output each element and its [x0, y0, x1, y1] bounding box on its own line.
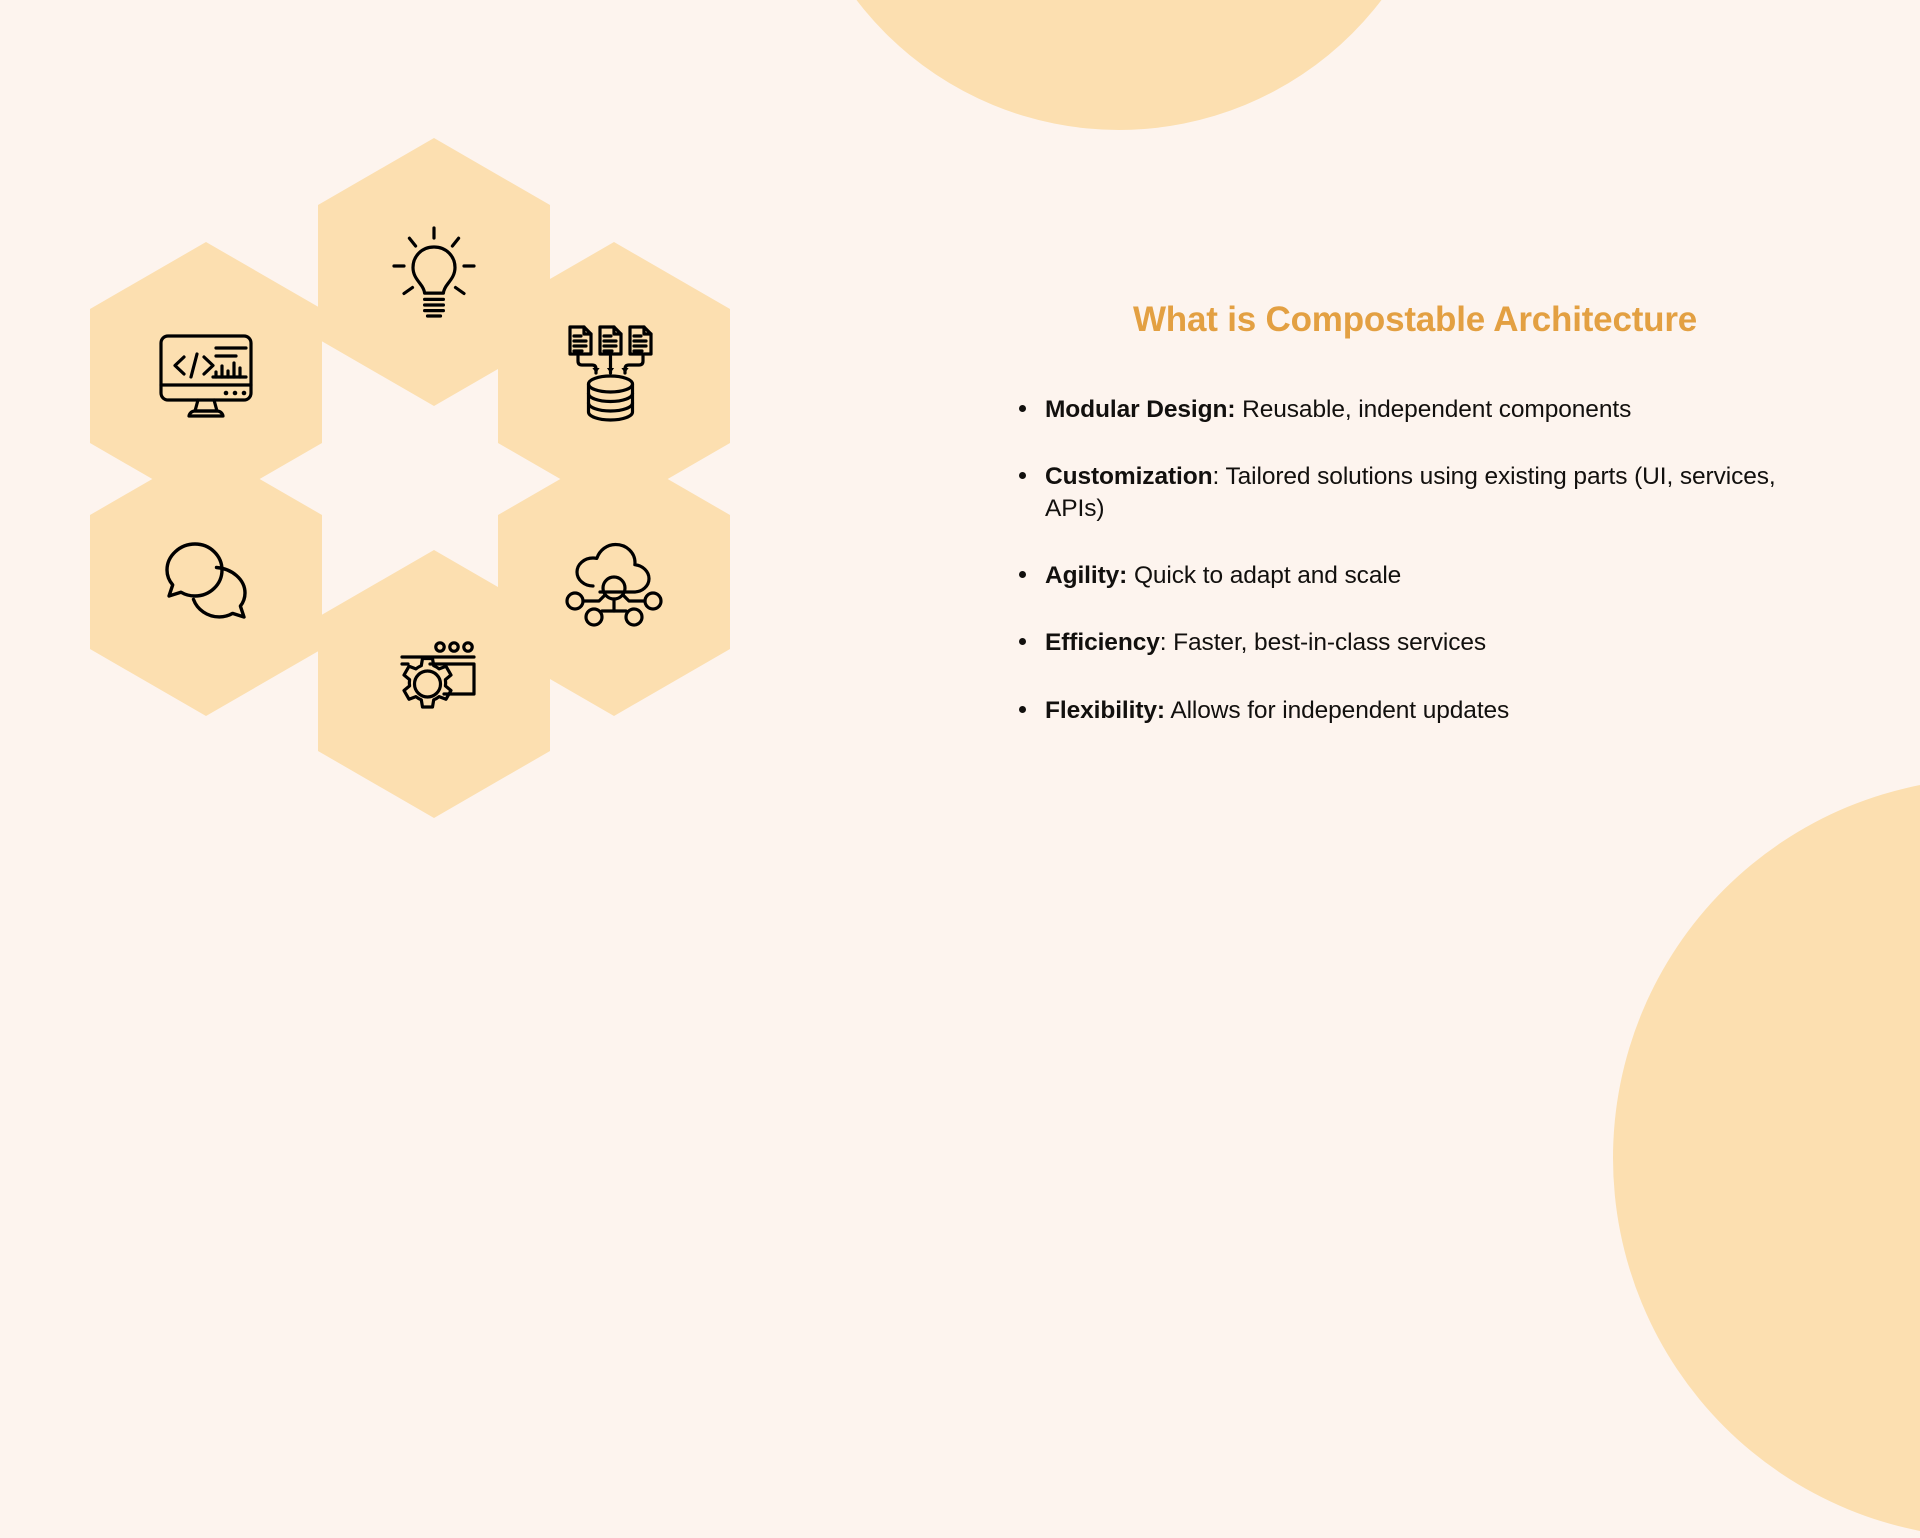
bullet-dot-icon: [1019, 706, 1026, 713]
list-item: Customization: Tailored solutions using …: [1010, 461, 1820, 524]
list-item-lead: Customization: [1045, 463, 1212, 490]
list-item-rest: Allows for independent updates: [1165, 697, 1509, 724]
browser-gear-icon: [388, 640, 480, 728]
list-item: Modular Design: Reusable, independent co…: [1010, 394, 1820, 425]
hex-cell-top-left[interactable]: [90, 242, 322, 510]
lightbulb-icon: [389, 225, 479, 319]
honeycomb-diagram: [90, 138, 690, 750]
list-item: Agility: Quick to adapt and scale: [1010, 560, 1820, 591]
documents-to-database-icon: [564, 325, 664, 427]
chat-bubbles-icon: [162, 539, 250, 625]
bullet-dot-icon: [1019, 571, 1026, 578]
page-title: What is Compostable Architecture: [1010, 300, 1820, 340]
list-item-rest: : Faster, best-in-class services: [1160, 629, 1486, 656]
list-item-rest: Reusable, independent components: [1235, 396, 1631, 423]
code-monitor-icon: [158, 333, 254, 419]
list-item-rest: Quick to adapt and scale: [1127, 562, 1401, 589]
bullet-dot-icon: [1019, 638, 1026, 645]
list-item-lead: Modular Design:: [1045, 396, 1235, 423]
decorative-circle-top: [789, 0, 1449, 130]
list-item-lead: Agility:: [1045, 562, 1127, 589]
bullet-dot-icon: [1019, 405, 1026, 412]
list-item: Flexibility: Allows for independent upda…: [1010, 695, 1820, 726]
bullet-dot-icon: [1019, 472, 1026, 479]
list-item-lead: Efficiency: [1045, 629, 1160, 656]
cloud-network-icon: [565, 538, 663, 626]
bullet-list: Modular Design: Reusable, independent co…: [1010, 394, 1820, 726]
content-panel: What is Compostable Architecture Modular…: [1010, 300, 1820, 726]
list-item: Efficiency: Faster, best-in-class servic…: [1010, 627, 1820, 658]
decorative-circle-bottom: [1613, 778, 1920, 1538]
list-item-lead: Flexibility:: [1045, 697, 1165, 724]
